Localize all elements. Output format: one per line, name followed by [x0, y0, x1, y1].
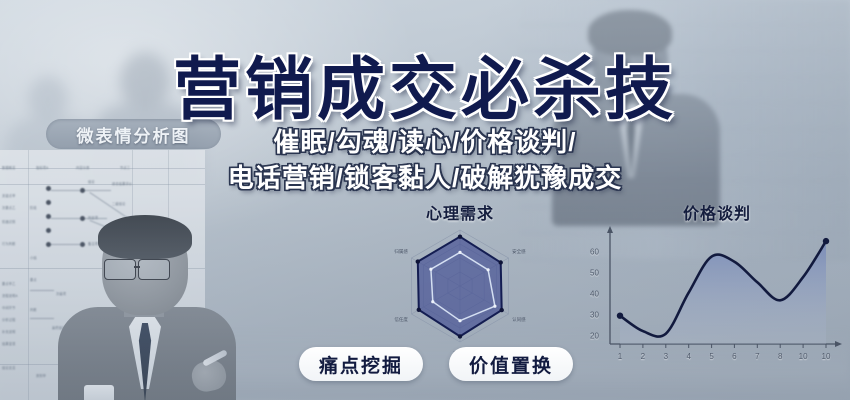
line-chart-x-tick: 6 [732, 352, 736, 361]
line-chart-x-tick: 10 [822, 352, 831, 361]
radar-chart: 心理需求 焦虑安全感认同感获得感信任度归属感 [340, 200, 580, 360]
line-chart-y-tick: 30 [590, 311, 599, 320]
line-chart-y-tick: 20 [590, 332, 599, 341]
foreground-speaker [62, 215, 232, 400]
radar-axis-label: 焦虑 [456, 215, 465, 221]
line-chart-svg [588, 222, 846, 372]
line-chart-y-tick: 40 [590, 290, 599, 299]
subtitle-line-2: 电话营销/锁客黏人/破解犹豫成交 [0, 158, 850, 195]
radar-axis-label: 信任度 [394, 317, 408, 323]
radar-axis-label: 安全感 [512, 249, 526, 255]
line-chart-title: 价格谈判 [588, 200, 846, 224]
tag-value-exchange-label: 价值置换 [469, 351, 553, 378]
line-chart-y-tick: 60 [590, 248, 599, 257]
tag-pain-point: 痛点挖掘 [299, 347, 423, 381]
radar-chart-svg [340, 218, 580, 360]
line-chart-y-tick: 50 [590, 269, 599, 278]
line-chart-x-tick: 8 [778, 352, 782, 361]
line-chart-x-tick: 2 [641, 352, 645, 361]
line-chart-x-tick: 10 [799, 352, 808, 361]
line-chart: 价格谈判 123456781010 6050403020 [588, 200, 846, 380]
line-chart-x-tick: 7 [755, 352, 759, 361]
promotional-banner: 数据概览 指标项A 内容分类 节点三 关键点甲 次要点乙 情绪识别 行为判断 阶… [0, 0, 850, 400]
line-chart-x-tick: 3 [664, 352, 668, 361]
page-title: 营销成交必杀技 [0, 34, 850, 133]
tag-value-exchange: 价值置换 [449, 347, 573, 381]
radar-axis-label: 归属感 [394, 249, 408, 255]
radar-axis-label: 认同感 [512, 317, 526, 323]
line-chart-x-tick: 1 [618, 352, 622, 361]
line-chart-x-tick: 5 [709, 352, 713, 361]
line-chart-x-tick: 4 [686, 352, 690, 361]
subtitle-line-1: 催眠/勾魂/读心/价格谈判/ [0, 122, 850, 159]
tag-pain-point-label: 痛点挖掘 [319, 351, 403, 378]
